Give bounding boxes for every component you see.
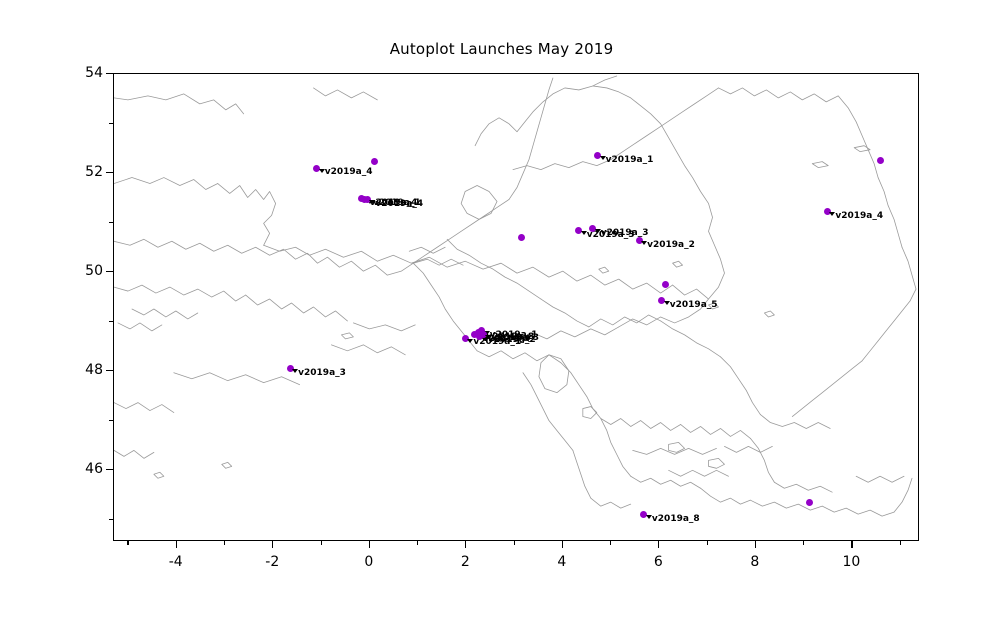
point-label: v2019a_2: [641, 240, 695, 250]
x-tick-label: 10: [843, 554, 861, 570]
point-label: v2019a_5: [664, 300, 718, 310]
x-tick-minor: [417, 541, 418, 545]
x-tick-label: 8: [750, 554, 759, 570]
x-tick-label: -2: [265, 554, 279, 570]
y-tick-label: 54: [65, 65, 103, 81]
marker-triangle-icon: [319, 169, 325, 173]
marker-triangle-icon: [600, 156, 606, 160]
point-label: v2019a_3: [595, 228, 649, 238]
point-label-text: v2019a_3: [491, 333, 539, 343]
point-label-text: v2019a_4: [835, 211, 883, 221]
y-tick-minor: [109, 321, 113, 322]
x-tick-major: [658, 541, 659, 548]
y-tick-major: [106, 73, 113, 74]
page-title: Autoplot Launches May 2019: [0, 40, 1003, 58]
marker-triangle-icon: [467, 339, 473, 343]
y-tick-label: 50: [65, 263, 103, 279]
x-tick-major: [562, 541, 563, 548]
marker-triangle-icon: [829, 212, 835, 216]
x-tick-label: 4: [557, 554, 566, 570]
marker-triangle-icon: [641, 241, 647, 245]
x-tick-minor: [610, 541, 611, 545]
x-tick-minor: [127, 541, 128, 545]
point-label-text: v2019a_5: [670, 300, 718, 310]
point-label: v2019a_4: [369, 199, 423, 209]
x-tick-minor: [514, 541, 515, 545]
point-label: v2019a_3: [485, 333, 539, 343]
marker-triangle-icon: [369, 200, 375, 204]
y-tick-minor: [109, 519, 113, 520]
marker-triangle-icon: [595, 229, 601, 233]
y-tick-label: 52: [65, 164, 103, 180]
marker-triangle-icon: [664, 301, 670, 305]
point-label-text: v2019a_4: [325, 167, 373, 177]
x-tick-minor: [900, 541, 901, 545]
scatter-point: [518, 234, 525, 241]
x-tick-minor: [707, 541, 708, 545]
x-tick-label: 6: [654, 554, 663, 570]
y-tick-major: [106, 271, 113, 272]
x-tick-major: [465, 541, 466, 548]
x-tick-major: [369, 541, 370, 548]
plot-axes: v2019a_4v2019a_4v2019a_1v2019a_4v2019a_3…: [113, 73, 919, 541]
point-label: v2019a_4: [319, 167, 373, 177]
y-tick-minor: [109, 420, 113, 421]
y-tick-major: [106, 172, 113, 173]
point-label-text: v2019a_1: [606, 155, 654, 165]
point-label-text: v2019a_3: [601, 228, 649, 238]
y-tick-label: 48: [65, 362, 103, 378]
x-tick-minor: [224, 541, 225, 545]
y-tick-minor: [109, 123, 113, 124]
point-label-text: v2019a_2: [647, 240, 695, 250]
point-label-text: v2019a_3: [298, 368, 346, 378]
x-tick-major: [755, 541, 756, 548]
scatter-points: v2019a_4v2019a_4v2019a_1v2019a_4v2019a_3…: [114, 74, 918, 540]
scatter-point: [662, 281, 669, 288]
point-label-text: v2019a_8: [652, 514, 700, 524]
x-tick-minor: [803, 541, 804, 545]
y-tick-major: [106, 370, 113, 371]
y-tick-minor: [109, 222, 113, 223]
scatter-point: [877, 157, 884, 164]
point-label: v2019a_8: [646, 514, 700, 524]
point-label-text: v2019a_4: [375, 199, 423, 209]
x-tick-major: [851, 541, 852, 548]
marker-triangle-icon: [646, 515, 652, 519]
figure-canvas: Autoplot Launches May 2019: [0, 0, 1003, 633]
x-tick-label: 2: [461, 554, 470, 570]
scatter-point: [371, 158, 378, 165]
marker-triangle-icon: [581, 231, 587, 235]
x-tick-label: -4: [169, 554, 183, 570]
y-tick-label: 46: [65, 461, 103, 477]
point-label: v2019a_1: [600, 155, 654, 165]
marker-triangle-icon: [485, 335, 491, 339]
y-tick-major: [106, 469, 113, 470]
scatter-point: [806, 499, 813, 506]
x-tick-minor: [321, 541, 322, 545]
marker-triangle-icon: [292, 369, 298, 373]
x-tick-label: 0: [364, 554, 373, 570]
point-label: v2019a_4: [829, 211, 883, 221]
x-tick-major: [176, 541, 177, 548]
x-tick-major: [272, 541, 273, 548]
point-label: v2019a_3: [292, 368, 346, 378]
